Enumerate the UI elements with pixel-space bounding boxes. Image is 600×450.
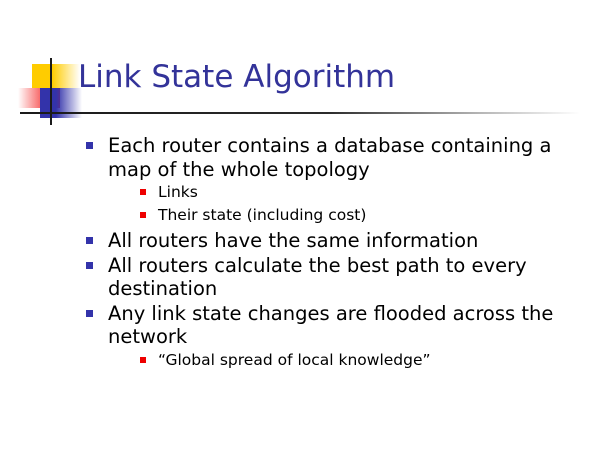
slide-body: Each router contains a database containi… [0, 134, 600, 374]
bullet-text: Each router contains a database containi… [108, 134, 584, 181]
yellow-square-icon [32, 64, 80, 88]
list-item: Each router contains a database containi… [84, 134, 584, 226]
list-item: Any link state changes are flooded acros… [84, 302, 584, 371]
sub-bullet-text: Links [158, 182, 584, 203]
list-item: “Global spread of local knowledge” [138, 350, 584, 371]
slide-canvas: Link State Algorithm Each router contain… [0, 0, 600, 450]
slide-title-area: Link State Algorithm [0, 52, 600, 128]
list-item: Links [138, 182, 584, 203]
bullet-text: All routers have the same information [108, 229, 584, 253]
bullet-list-level2: “Global spread of local knowledge” [108, 350, 584, 371]
page-title: Link State Algorithm [78, 58, 395, 96]
bullet-square-icon [86, 237, 93, 244]
sub-bullet-text: Their state (including cost) [158, 205, 584, 226]
bullet-list-level2: Links Their state (including cost) [108, 182, 584, 226]
bullet-text: Any link state changes are flooded acros… [108, 302, 584, 349]
sub-bullet-text: “Global spread of local knowledge” [158, 350, 584, 371]
sub-bullet-square-icon [140, 189, 146, 195]
bullet-square-icon [86, 142, 93, 149]
vertical-rule-icon [50, 58, 52, 125]
list-item: All routers calculate the best path to e… [84, 254, 584, 301]
sub-bullet-square-icon [140, 357, 146, 363]
bullet-square-icon [86, 262, 93, 269]
red-square-icon [18, 88, 60, 108]
bullet-square-icon [86, 310, 93, 317]
sub-bullet-square-icon [140, 212, 146, 218]
blue-square-icon [40, 88, 82, 118]
bullet-list-level1: Each router contains a database containi… [0, 134, 600, 371]
list-item: Their state (including cost) [138, 205, 584, 226]
horizontal-rule-divider [20, 112, 580, 114]
bullet-text: All routers calculate the best path to e… [108, 254, 584, 301]
list-item: All routers have the same information [84, 229, 584, 253]
